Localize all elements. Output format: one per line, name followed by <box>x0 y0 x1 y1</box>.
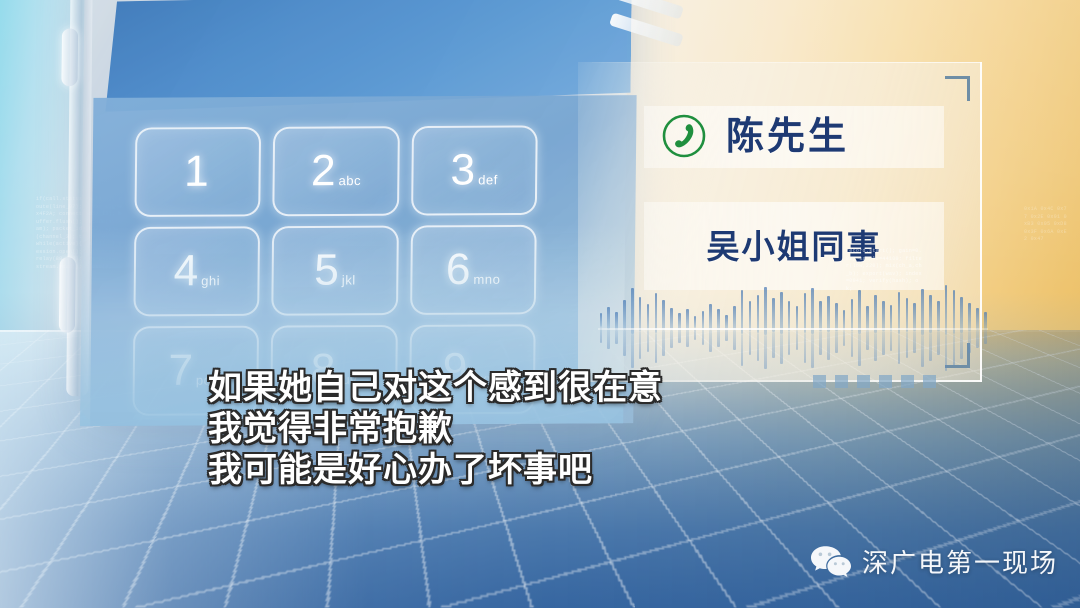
wechat-watermark-label: 深广电第一现场 <box>862 543 1058 580</box>
audio-waveform-bar-up <box>788 301 791 331</box>
audio-waveform-bar-up <box>670 308 673 330</box>
caller-relation: 吴小姐同事 <box>707 230 882 263</box>
audio-waveform-bar-down <box>898 334 901 364</box>
audio-waveform-bar-down <box>757 333 760 361</box>
audio-waveform-bar-up <box>694 316 697 328</box>
corner-bracket-top-right <box>945 76 970 101</box>
audio-waveform-bar-up <box>804 293 807 333</box>
audio-waveform-bar-down <box>647 330 650 352</box>
audio-waveform-bar-down <box>631 334 634 368</box>
audio-waveform-bar-down <box>733 330 736 350</box>
wechat-icon <box>810 545 852 579</box>
audio-waveform-bar-down <box>835 331 838 353</box>
phone-handset-icon <box>660 112 708 160</box>
audio-waveform-bar-up <box>796 306 799 330</box>
audio-waveform-bar-down <box>804 333 807 363</box>
audio-waveform-bar-up <box>827 296 830 332</box>
audio-waveform-bar-up <box>976 308 979 330</box>
audio-waveform-bar-down <box>819 331 822 355</box>
subtitle-line-2: 我觉得非常抱歉 <box>208 409 928 450</box>
audio-waveform-bar-down <box>655 333 658 363</box>
audio-waveform-bar-down <box>615 330 618 344</box>
audio-waveform-bar-down <box>607 329 610 349</box>
keypad-letters: def <box>478 172 498 187</box>
audio-waveform-bar-up <box>607 307 610 329</box>
audio-waveform-bar-down <box>741 334 744 366</box>
audio-waveform-bar-down <box>811 334 814 368</box>
audio-waveform-bar-down <box>929 333 932 361</box>
subtitle-line-3: 我可能是好心办了坏事吧 <box>208 450 928 491</box>
audio-waveform-bar-down <box>686 329 689 347</box>
audio-waveform-bar-down <box>937 331 940 355</box>
phone-side-button-upper <box>61 28 78 86</box>
broadcast-frame: if(call.status==ACTIVE){ route(line_07);… <box>0 0 1080 608</box>
audio-waveform-bar-up <box>702 311 705 329</box>
keypad-digit: 2 <box>311 149 336 193</box>
keypad-key-1: 1 <box>134 127 261 217</box>
audio-waveform-bar-down <box>725 329 728 341</box>
audio-waveform-bar-down <box>662 330 665 356</box>
audio-waveform-bar-down <box>968 331 971 353</box>
audio-waveform-bar-down <box>906 332 909 358</box>
audio-waveform-bar-down <box>827 332 830 360</box>
audio-waveform-bar-down <box>890 331 893 351</box>
audio-waveform-bar-up <box>882 301 885 331</box>
audio-waveform-bar-down <box>639 331 642 359</box>
audio-waveform-bar-up <box>843 310 846 330</box>
audio-waveform-bar-down <box>796 330 799 350</box>
audio-waveform-bar-down <box>694 328 697 340</box>
audio-waveform-bar-up <box>835 303 838 331</box>
audio-waveform-bar-down <box>913 331 916 353</box>
audio-waveform-bar-up <box>866 306 869 330</box>
audio-waveform-bar-up <box>772 298 775 332</box>
audio-waveform-bar-down <box>874 333 877 361</box>
audio-waveform-bar-up <box>725 315 728 329</box>
audio-waveform-bar-down <box>788 331 791 355</box>
keypad-key-3: 3def <box>411 125 538 215</box>
keypad-digit: 3 <box>450 149 475 193</box>
audio-waveform-bar-up <box>600 313 603 327</box>
audio-waveform-bar-down <box>623 330 626 356</box>
audio-waveform-bar-down <box>749 331 752 355</box>
audio-waveform-bar-up <box>709 304 712 330</box>
wechat-watermark: 深广电第一现场 <box>810 543 1058 580</box>
audio-waveform-bar-down <box>960 333 963 359</box>
keypad-letters: abc <box>338 173 361 188</box>
audio-waveform-bar-up <box>678 313 681 329</box>
audio-waveform-bar-up <box>717 309 720 329</box>
audio-waveform-bar-down <box>858 334 861 366</box>
keypad-key-2: 2abc <box>273 126 400 216</box>
audio-waveform-bar-down <box>976 330 979 348</box>
audio-waveform-bar-up <box>819 301 822 331</box>
audio-waveform-bar-up <box>913 303 916 331</box>
audio-waveform-bar-down <box>709 330 712 352</box>
audio-waveform-bar-down <box>764 335 767 369</box>
audio-waveform-bar-down <box>945 335 948 371</box>
phone-graphic: 1 2abc 3def 4ghi 5jkl 6mno 7pqrs 8tuv 9w… <box>80 0 628 426</box>
subtitle-block: 如果她自己对这个感到很在意 我觉得非常抱歉 我可能是好心办了坏事吧 <box>208 368 928 491</box>
audio-waveform-bar-down <box>851 331 854 357</box>
audio-waveform-centerline <box>598 328 988 330</box>
audio-waveform-bar-up <box>733 306 736 330</box>
audio-waveform-bar-up <box>662 300 665 330</box>
audio-waveform-bar-up <box>749 301 752 331</box>
audio-waveform-bar-down <box>882 331 885 355</box>
audio-waveform-bar-up <box>906 298 909 332</box>
audio-waveform-bar-up <box>937 301 940 331</box>
audio-waveform-bar-up <box>686 309 689 329</box>
audio-waveform-bar-up <box>851 299 854 331</box>
caller-panel-top-edge <box>592 62 982 63</box>
subtitle-line-1: 如果她自己对这个感到很在意 <box>208 368 928 409</box>
audio-waveform-bar-down <box>702 329 705 345</box>
audio-waveform-bar-up <box>623 300 626 330</box>
audio-waveform-bar-down <box>717 329 720 347</box>
audio-waveform-bar-up <box>655 293 658 333</box>
audio-waveform-bar-down <box>953 334 956 366</box>
caller-name: 陈先生 <box>726 118 849 156</box>
audio-waveform-bar-up <box>647 304 650 330</box>
audio-waveform-bar-down <box>780 334 783 364</box>
audio-waveform-bar-down <box>984 330 987 344</box>
audio-waveform-bar-down <box>678 329 681 343</box>
audio-waveform-bar-down <box>866 330 869 350</box>
keypad-digit: 1 <box>184 150 209 194</box>
caller-relation-bar: 吴小姐同事 <box>644 202 944 290</box>
phone-side-button-lower <box>59 257 76 333</box>
audio-waveform-bar-down <box>921 335 924 367</box>
audio-waveform-bar-up <box>968 303 971 331</box>
audio-waveform-bar-down <box>843 330 846 346</box>
audio-waveform-bar-down <box>772 332 775 358</box>
audio-waveform-bar-up <box>639 297 642 331</box>
audio-waveform-bar-down <box>670 330 673 348</box>
audio-waveform <box>598 282 988 374</box>
